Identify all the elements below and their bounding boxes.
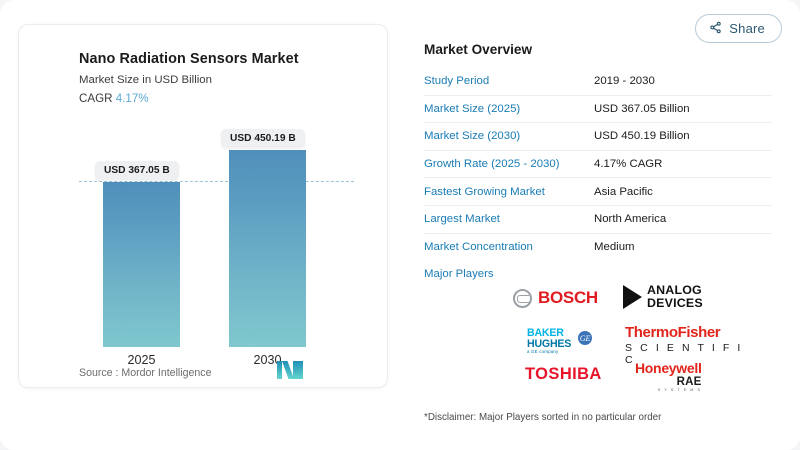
chart-source: Source : Mordor Intelligence [79, 367, 212, 379]
row-value: USD 367.05 Billion [594, 103, 690, 115]
row-value: Asia Pacific [594, 186, 653, 198]
bh-line-2: HUGHES [527, 339, 571, 350]
row-value: USD 450.19 Billion [594, 130, 690, 142]
baker-hughes-wordmark: BAKER HUGHES a GE company [527, 328, 571, 355]
bosch-wordmark: BOSCH [538, 288, 598, 308]
bosch-logo: BOSCH [513, 288, 598, 308]
major-players-logos: BOSCH ANALOG DEVICES BAKER HUGHES a GE c… [505, 280, 755, 400]
major-players-label: Major Players [424, 268, 772, 280]
mordor-intelligence-logo [277, 361, 303, 379]
ge-monogram-icon: GE [578, 331, 592, 345]
table-row: Market Concentration Medium [424, 234, 772, 261]
disclaimer-text: *Disclaimer: Major Players sorted in no … [424, 412, 661, 423]
table-row: Largest Market North America [424, 206, 772, 234]
table-row: Growth Rate (2025 - 2030) 4.17% CAGR [424, 151, 772, 179]
baker-hughes-logo: BAKER HUGHES a GE company GE [527, 328, 592, 355]
honeywell-rae-logo: Honeywell RAE S Y S T E M S [635, 360, 702, 392]
row-value: 4.17% CAGR [594, 158, 662, 170]
chart-card: Nano Radiation Sensors Market Market Siz… [18, 24, 388, 388]
row-key: Largest Market [424, 213, 594, 225]
bar-2025[interactable] [103, 182, 180, 347]
share-button-label: Share [729, 22, 765, 35]
analog-devices-wordmark: ANALOG DEVICES [647, 284, 703, 309]
share-icon [709, 21, 722, 36]
market-overview-panel: Market Overview Study Period 2019 - 2030… [424, 42, 772, 280]
row-key: Fastest Growing Market [424, 186, 594, 198]
bar-chart-plot: USD 367.05 B 2025 USD 450.19 B 2030 Sour… [19, 25, 389, 389]
toshiba-wordmark: TOSHIBA [525, 365, 602, 384]
x-axis-label-2025: 2025 [103, 353, 180, 367]
analog-devices-triangle-icon [623, 285, 642, 309]
row-key: Market Concentration [424, 241, 594, 253]
overview-title: Market Overview [424, 42, 772, 57]
rae-wordmark: RAE [635, 376, 702, 388]
bosch-mark-icon [513, 289, 532, 308]
bar-label-2025: USD 367.05 B [95, 161, 179, 180]
row-value: 2019 - 2030 [594, 75, 655, 87]
table-row: Fastest Growing Market Asia Pacific [424, 178, 772, 206]
thermo-fisher-wordmark: ThermoFisher [625, 324, 755, 341]
toshiba-logo: TOSHIBA [525, 365, 602, 384]
table-row: Study Period 2019 - 2030 [424, 68, 772, 96]
row-value: North America [594, 213, 666, 225]
row-key: Study Period [424, 75, 594, 87]
honeywell-wordmark: Honeywell [635, 360, 702, 376]
row-value: Medium [594, 241, 635, 253]
bar-label-2030: USD 450.19 B [221, 129, 305, 148]
row-key: Growth Rate (2025 - 2030) [424, 158, 594, 170]
share-button[interactable]: Share [695, 14, 782, 43]
adi-line-2: DEVICES [647, 297, 703, 310]
adi-line-1: ANALOG [647, 284, 703, 297]
bar-2030[interactable] [229, 150, 306, 347]
row-key: Market Size (2030) [424, 130, 594, 142]
market-summary-page: Share Nano Radiation Sensors Market Mark… [0, 0, 800, 450]
row-key: Market Size (2025) [424, 103, 594, 115]
bh-line-3: a GE company [527, 350, 571, 354]
table-row: Market Size (2025) USD 367.05 Billion [424, 96, 772, 124]
analog-devices-logo: ANALOG DEVICES [623, 284, 703, 309]
table-row: Market Size (2030) USD 450.19 Billion [424, 123, 772, 151]
rae-systems-subtitle: S Y S T E M S [635, 388, 702, 392]
bh-line-1: BAKER [527, 328, 571, 339]
